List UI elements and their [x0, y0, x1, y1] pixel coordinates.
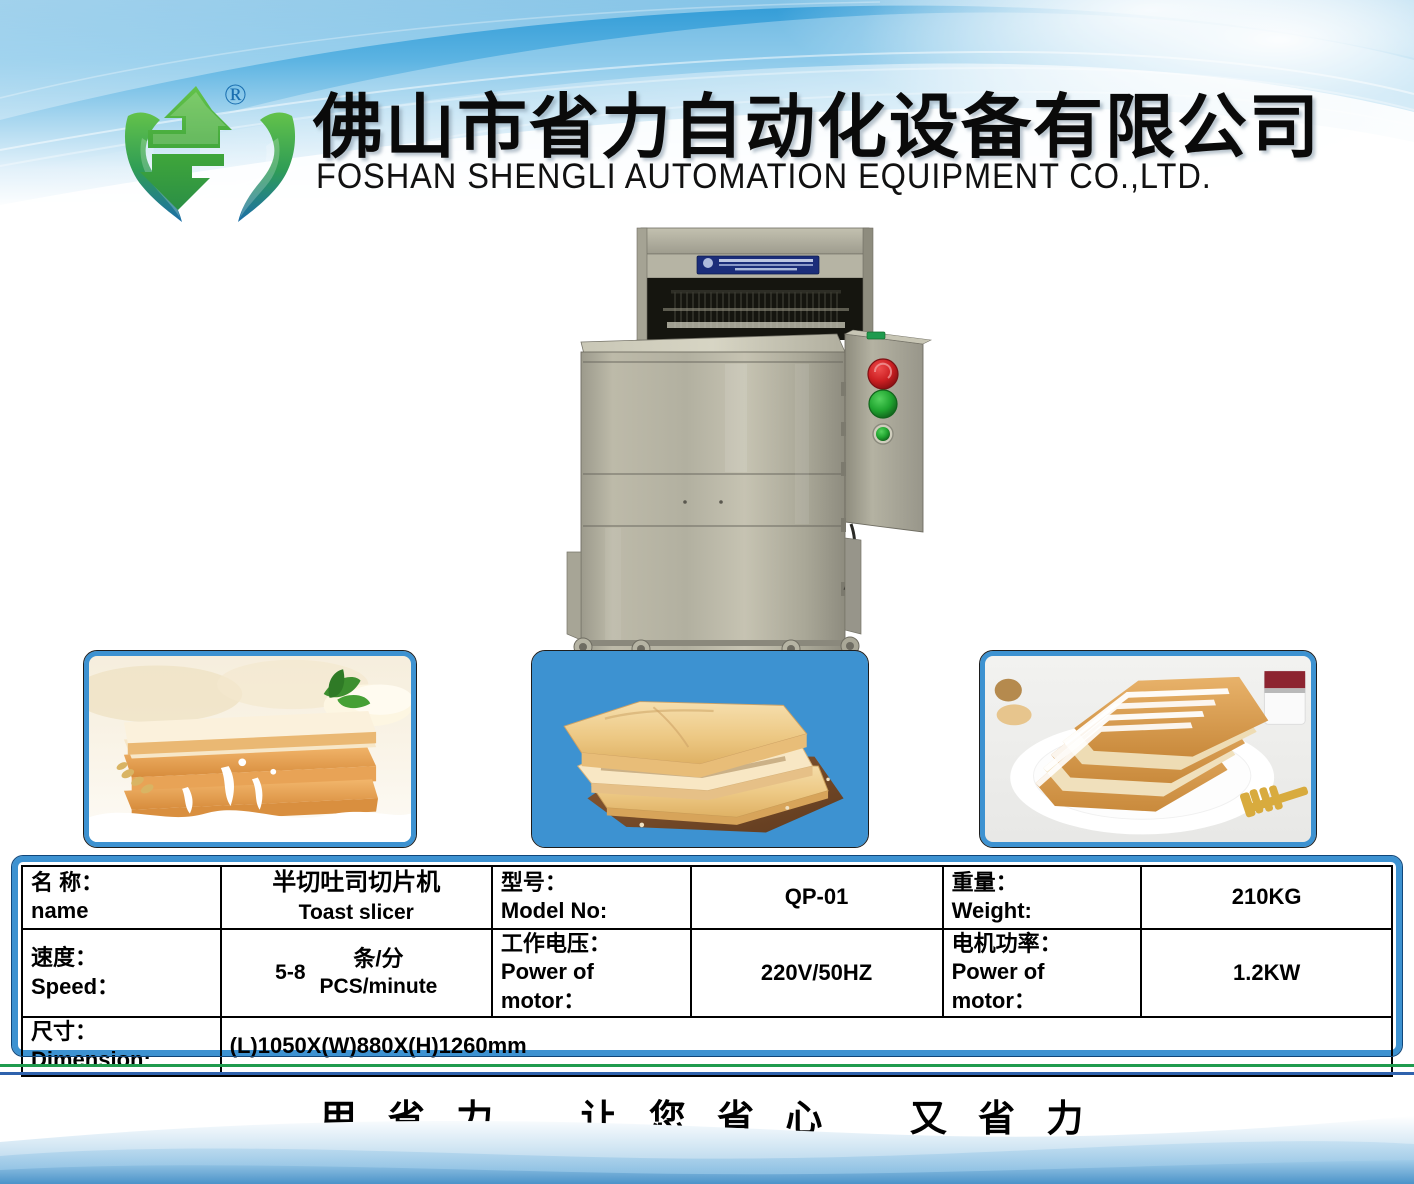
toast-on-board-illustration: [537, 656, 863, 842]
cell-voltage-value: 220V/50HZ: [691, 929, 943, 1017]
cell-speed-label: 速度： Speed：: [22, 929, 221, 1017]
cell-motor-power-label: 电机功率： Power of motor：: [943, 929, 1142, 1017]
cell-speed-value: 5-8 条/分 PCS/minute: [221, 929, 492, 1017]
table-row: 名 称： name 半切吐司切片机 Toast slicer 型号： Model…: [22, 866, 1392, 929]
label-en: Power of motor：: [501, 958, 682, 1015]
page-header: ® 佛山市省力自动化设备有限公司 FOSHAN SHENGLI AUTOMATI…: [0, 0, 1414, 228]
product-photo-2: [532, 651, 868, 847]
wave-decoration: [0, 1110, 1414, 1184]
label-cn: 速度：: [31, 944, 212, 973]
cell-model-label: 型号： Model No:: [492, 866, 691, 929]
bread-milk-splash-illustration: [89, 656, 411, 842]
cell-name-value: 半切吐司切片机 Toast slicer: [221, 866, 492, 929]
label-en: Speed：: [31, 973, 212, 1002]
value-cn: 半切吐司切片机: [230, 867, 483, 899]
specification-table: 名 称： name 半切吐司切片机 Toast slicer 型号： Model…: [12, 856, 1402, 1056]
bread-on-plate-illustration: [985, 656, 1311, 842]
cell-name-label: 名 称： name: [22, 866, 221, 929]
machine-product-photo: [545, 222, 965, 652]
speed-number: 5-8: [275, 961, 305, 985]
speed-unit-en: PCS/minute: [320, 973, 438, 1001]
cell-motor-power-value: 1.2KW: [1141, 929, 1392, 1017]
label-en: Power of motor：: [952, 958, 1133, 1015]
value-en: Toast slicer: [230, 899, 483, 927]
label-cn: 工作电压：: [501, 930, 682, 959]
cell-weight-value: 210KG: [1141, 866, 1392, 929]
company-name-en: FOSHAN SHENGLI AUTOMATION EQUIPMENT CO.,…: [316, 157, 1255, 197]
cell-model-value: QP-01: [691, 866, 943, 929]
label-cn: 型号：: [501, 869, 682, 898]
label-en: Weight:: [952, 897, 1133, 926]
cell-voltage-label: 工作电压： Power of motor：: [492, 929, 691, 1017]
label-cn: 名 称：: [31, 869, 212, 898]
label-en: Model No:: [501, 897, 682, 926]
label-cn: 电机功率：: [952, 930, 1133, 959]
divider-green: [0, 1064, 1414, 1067]
label-cn: 尺寸：: [31, 1018, 212, 1047]
product-photo-3: [980, 651, 1316, 847]
divider-blue: [0, 1072, 1414, 1075]
label-en: name: [31, 897, 212, 926]
cell-weight-label: 重量： Weight:: [943, 866, 1142, 929]
speed-unit-cn: 条/分: [320, 944, 438, 974]
label-cn: 重量：: [952, 869, 1133, 898]
product-photo-1: [84, 651, 416, 847]
product-spec-sheet: ® 佛山市省力自动化设备有限公司 FOSHAN SHENGLI AUTOMATI…: [0, 0, 1414, 1184]
company-logo: [120, 72, 300, 228]
footer-waves: [0, 1110, 1414, 1184]
table-row: 速度： Speed： 5-8 条/分 PCS/minute: [22, 929, 1392, 1017]
label-en: Dimension:: [31, 1046, 212, 1075]
registered-trademark-icon: ®: [224, 78, 247, 112]
